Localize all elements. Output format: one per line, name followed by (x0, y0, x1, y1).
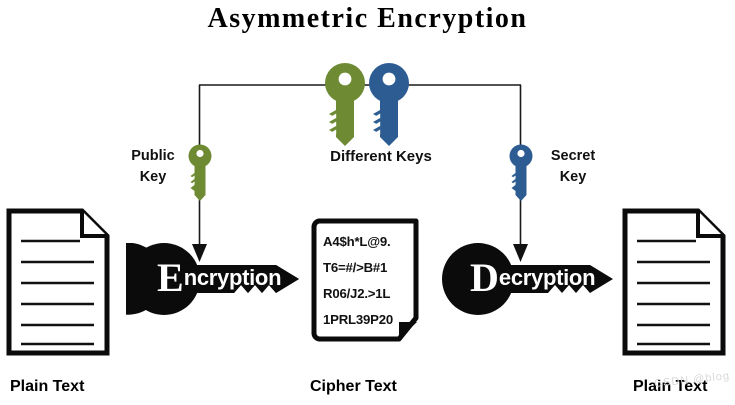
decryption-rest: ecryption (499, 265, 595, 290)
public-key-label: Public Key (118, 146, 188, 188)
encryption-label: Encryption (157, 258, 281, 298)
different-keys-public-icon (325, 62, 365, 148)
public-key-icon (188, 143, 212, 203)
decryption-initial: D (470, 255, 499, 300)
different-keys-label: Different Keys (296, 146, 466, 168)
decryption-label: Decryption (470, 258, 595, 298)
plain-text-document-right (622, 208, 726, 356)
plain-text-document-left (6, 208, 110, 356)
secret-key-label: Secret Key (536, 146, 610, 188)
cipher-text-label: Cipher Text (310, 378, 397, 396)
encryption-rest: ncryption (184, 265, 282, 290)
encryption-initial: E (157, 255, 184, 300)
diagram-canvas: Asymmetric Encryption (0, 0, 735, 405)
different-keys-secret-icon (369, 62, 409, 148)
cipher-text-note (311, 218, 424, 342)
secret-key-icon (509, 143, 533, 203)
plain-text-left-label: Plain Text (10, 378, 84, 396)
